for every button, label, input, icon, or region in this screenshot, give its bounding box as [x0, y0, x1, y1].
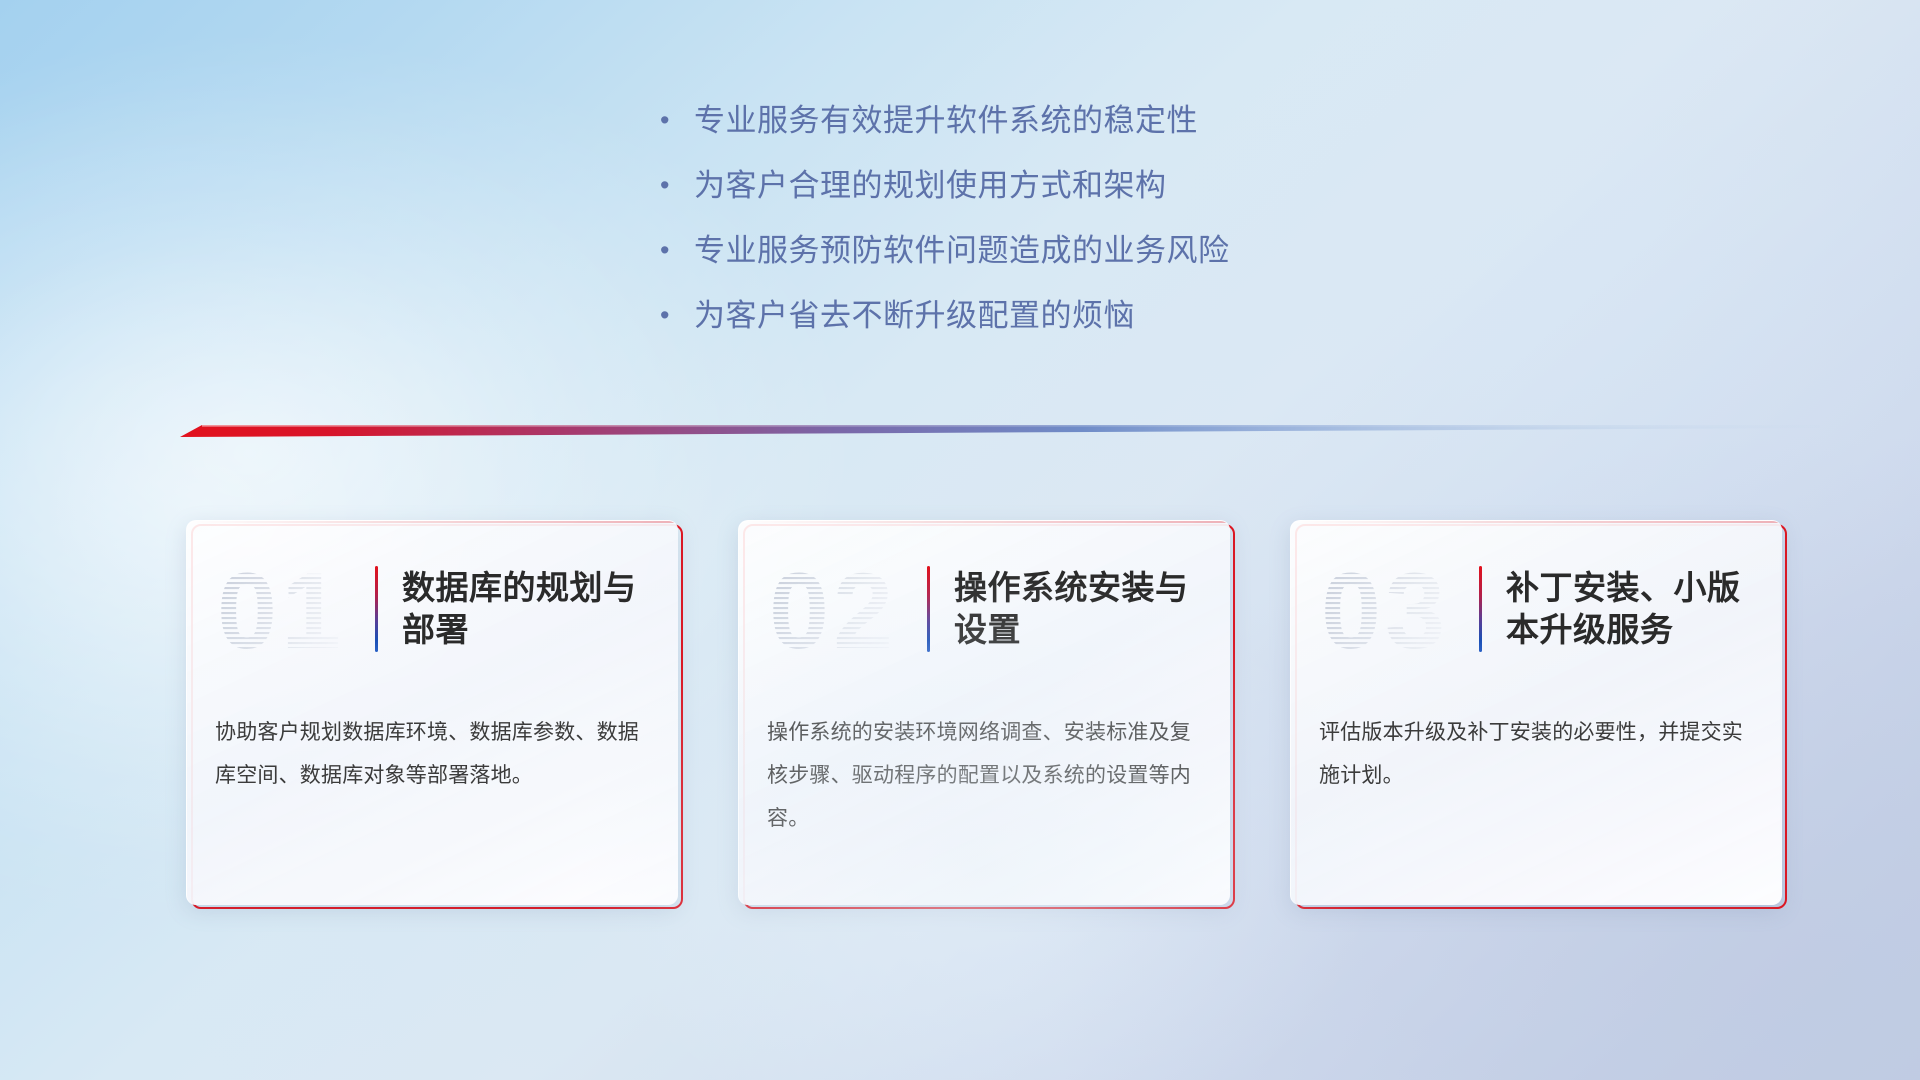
- bullet-marker-icon: •: [660, 302, 694, 329]
- feature-card[interactable]: 02 操作系统安装与设置 操作系统的安装环境网络调查、安装标准及复核步骤、驱动程…: [738, 520, 1230, 905]
- bullet-text: 专业服务有效提升软件系统的稳定性: [694, 105, 1198, 136]
- card-header: 02 操作系统安装与设置: [739, 549, 1230, 669]
- card-panel: 02 操作系统安装与设置 操作系统的安装环境网络调查、安装标准及复核步骤、驱动程…: [738, 520, 1230, 905]
- feature-card[interactable]: 01 数据库的规划与部署 协助客户规划数据库环境、数据库参数、数据库空间、数据库…: [186, 520, 678, 905]
- card-title: 数据库的规划与部署: [402, 567, 678, 651]
- list-item: • 专业服务预防软件问题造成的业务风险: [660, 235, 1560, 300]
- card-accent-rule: [927, 566, 930, 652]
- bullet-text: 为客户省去不断升级配置的烦恼: [694, 300, 1135, 331]
- bullet-list: • 专业服务有效提升软件系统的稳定性 • 为客户合理的规划使用方式和架构 • 专…: [660, 105, 1560, 365]
- bullet-marker-icon: •: [660, 172, 694, 199]
- bullet-text: 为客户合理的规划使用方式和架构: [694, 170, 1167, 201]
- bullet-text: 专业服务预防软件问题造成的业务风险: [694, 235, 1230, 266]
- card-number-watermark: 02: [767, 552, 917, 666]
- card-body-text: 操作系统的安装环境网络调查、安装标准及复核步骤、驱动程序的配置以及系统的设置等内…: [767, 711, 1204, 840]
- card-title: 补丁安装、小版本升级服务: [1506, 567, 1782, 651]
- card-body-text: 评估版本升级及补丁安装的必要性，并提交实施计划。: [1319, 711, 1756, 797]
- card-accent-rule: [375, 566, 378, 652]
- card-number-watermark: 01: [215, 552, 365, 666]
- section-divider: [180, 418, 1820, 444]
- card-accent-rule: [1479, 566, 1482, 652]
- svg-text:02: 02: [769, 552, 897, 666]
- bullet-marker-icon: •: [660, 107, 694, 134]
- card-number-watermark: 03: [1319, 552, 1469, 666]
- card-title: 操作系统安装与设置: [954, 567, 1230, 651]
- card-panel: 01 数据库的规划与部署 协助客户规划数据库环境、数据库参数、数据库空间、数据库…: [186, 520, 678, 905]
- list-item: • 为客户省去不断升级配置的烦恼: [660, 300, 1560, 365]
- feature-card[interactable]: 03 补丁安装、小版本升级服务 评估版本升级及补丁安装的必要性，并提交实施计划。: [1290, 520, 1782, 905]
- svg-text:01: 01: [217, 552, 345, 666]
- card-panel: 03 补丁安装、小版本升级服务 评估版本升级及补丁安装的必要性，并提交实施计划。: [1290, 520, 1782, 905]
- svg-text:03: 03: [1321, 552, 1449, 666]
- card-group: 01 数据库的规划与部署 协助客户规划数据库环境、数据库参数、数据库空间、数据库…: [186, 520, 1786, 910]
- card-header: 03 补丁安装、小版本升级服务: [1291, 549, 1782, 669]
- list-item: • 为客户合理的规划使用方式和架构: [660, 170, 1560, 235]
- bullet-marker-icon: •: [660, 237, 694, 264]
- card-body-text: 协助客户规划数据库环境、数据库参数、数据库空间、数据库对象等部署落地。: [215, 711, 652, 797]
- slide-canvas: • 专业服务有效提升软件系统的稳定性 • 为客户合理的规划使用方式和架构 • 专…: [0, 0, 1920, 1080]
- list-item: • 专业服务有效提升软件系统的稳定性: [660, 105, 1560, 170]
- card-header: 01 数据库的规划与部署: [187, 549, 678, 669]
